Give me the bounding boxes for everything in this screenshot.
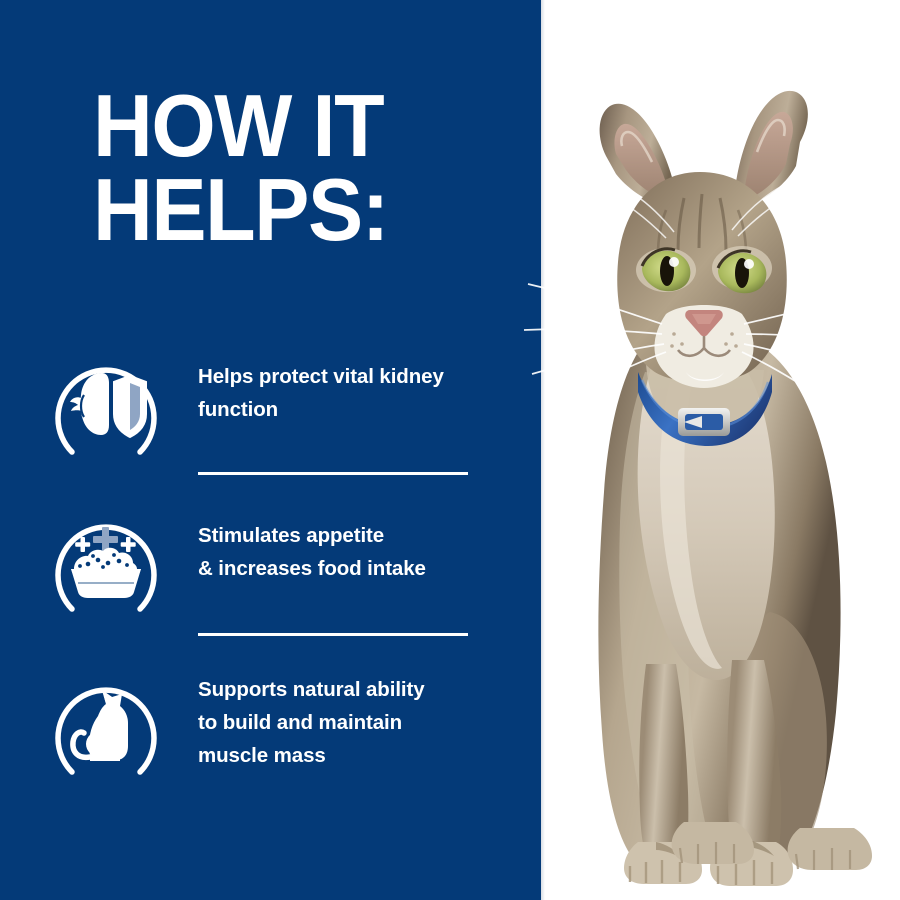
food-bowl-sparkle-icon	[44, 497, 168, 621]
sitting-cat-icon	[44, 660, 168, 784]
cat-photo	[470, 52, 900, 900]
page-title: HOW IT HELPS:	[93, 84, 488, 253]
benefit-row: Stimulates appetite & increases food int…	[44, 497, 514, 621]
benefit-label: Supports natural ability to build and ma…	[168, 660, 425, 773]
promo-panel: HOW IT HELPS: Helps protect vital kidney…	[0, 0, 900, 900]
benefit-row: Supports natural ability to build and ma…	[44, 660, 514, 784]
kidney-shield-icon	[44, 340, 168, 464]
benefit-divider	[198, 633, 468, 636]
benefit-label: Helps protect vital kidney function	[168, 340, 444, 426]
benefit-row: Helps protect vital kidney function	[44, 340, 514, 464]
benefit-label: Stimulates appetite & increases food int…	[168, 497, 426, 585]
benefit-divider	[198, 472, 468, 475]
